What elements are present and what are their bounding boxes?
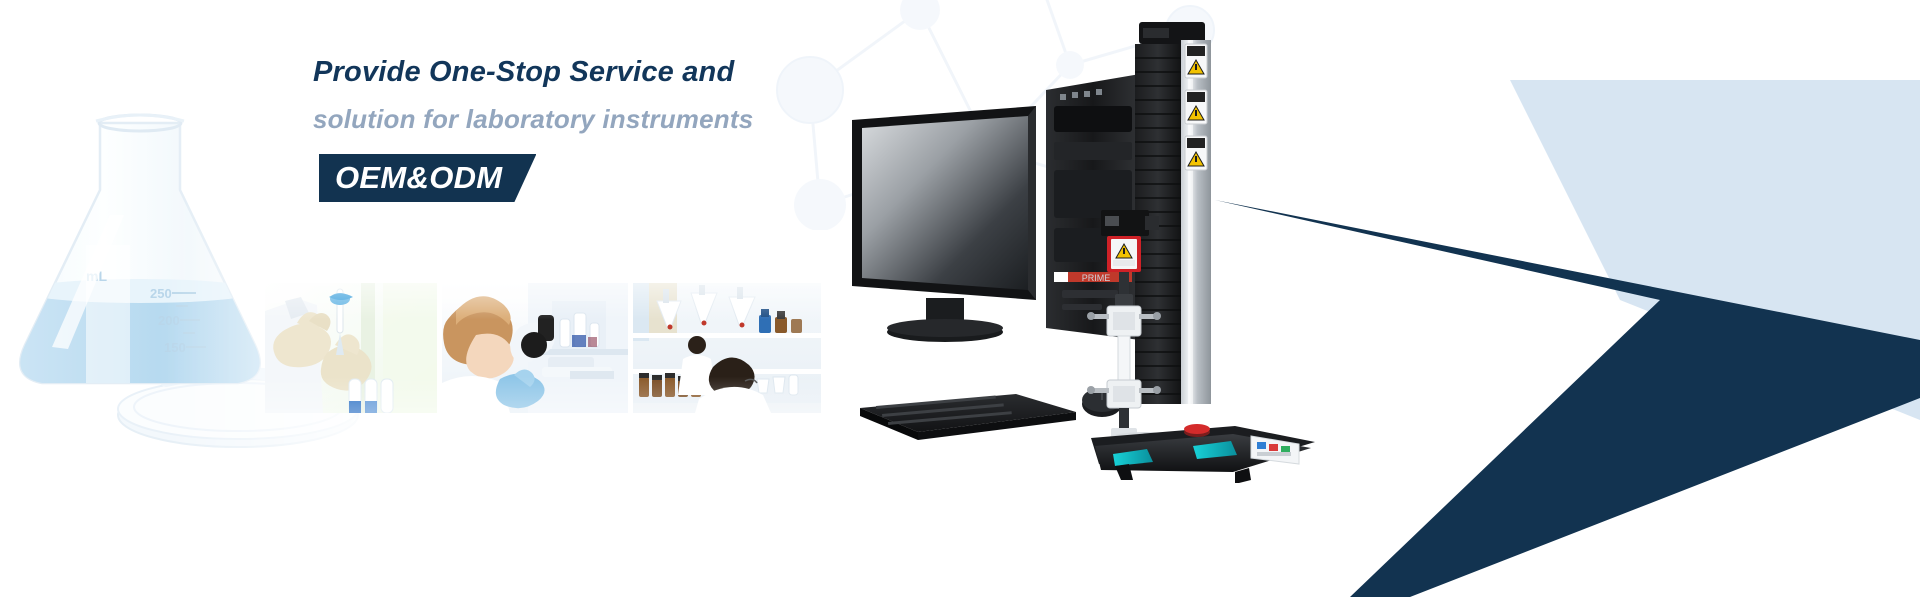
flask-graduation-150: 150 <box>164 340 186 355</box>
warning-labels <box>1185 44 1207 170</box>
monitor-icon <box>852 106 1036 342</box>
photo-lab-bench-image <box>633 283 821 413</box>
navy-arrow-shape <box>1215 200 1920 597</box>
lower-grip <box>1087 380 1161 438</box>
flask-graduation-250: 250 <box>150 286 172 301</box>
emergency-stop-button <box>1184 424 1210 437</box>
photo-lab-bench[interactable] <box>633 283 821 413</box>
banner-stage: 250 200 150 mL Provide One-Stop Service … <box>0 0 1920 597</box>
keyboard-icon <box>860 394 1076 440</box>
oem-odm-badge: OEM&ODM <box>319 154 536 202</box>
universal-testing-machine <box>1085 18 1315 483</box>
photo-pipetting-image <box>265 283 437 413</box>
photo-pipetting[interactable] <box>265 283 437 413</box>
photo-strip <box>265 283 821 413</box>
flask-unit-label: mL <box>86 268 107 284</box>
flask-graduation-200: 200 <box>158 313 180 328</box>
photo-microscope[interactable] <box>442 283 628 413</box>
photo-microscope-image <box>442 283 628 413</box>
light-blue-triangle-shape <box>1510 80 1920 420</box>
